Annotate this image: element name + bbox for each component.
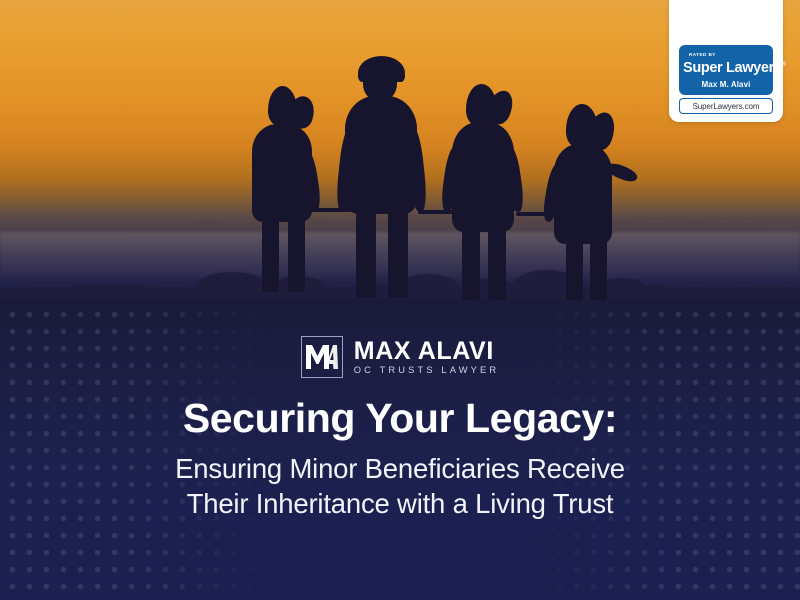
super-lawyers-badge[interactable]: RATED BY Super Lawyers® Max M. Alavi Sup… — [669, 0, 783, 122]
headline-secondary-line2: Their Inheritance with a Living Trust — [187, 488, 614, 519]
silhouette-figure-4-torso — [554, 144, 612, 244]
silhouette-figure-3-leg — [488, 224, 506, 300]
logo-wordmark: MAX ALAVI OC TRUSTS LAWYER — [354, 339, 499, 376]
headline-block: Securing Your Legacy: Ensuring Minor Ben… — [0, 396, 800, 521]
badge-attorney-name: Max M. Alavi — [683, 80, 769, 89]
badge-title: Super Lawyers® — [683, 61, 769, 76]
shrub — [60, 284, 150, 296]
registered-trademark-icon: ® — [782, 62, 786, 68]
headline-secondary-line1: Ensuring Minor Beneficiaries Receive — [175, 453, 625, 484]
silhouette-figure-4-leg — [566, 236, 583, 302]
monogram-icon — [301, 336, 343, 378]
silhouette-figure-1-leg — [262, 214, 279, 292]
silhouette-figure-1-leg — [288, 214, 305, 292]
logo-tagline: OC TRUSTS LAWYER — [354, 366, 499, 375]
silhouette-figure-2-leg — [388, 206, 408, 298]
content-panel: MAX ALAVI OC TRUSTS LAWYER Securing Your… — [0, 300, 800, 600]
brand-logo[interactable]: MAX ALAVI OC TRUSTS LAWYER — [0, 336, 800, 378]
hero-photo: RATED BY Super Lawyers® Max M. Alavi Sup… — [0, 0, 800, 320]
badge-url-link[interactable]: SuperLawyers.com — [679, 98, 773, 114]
logo-name: MAX ALAVI — [354, 339, 499, 365]
badge-rated-by-label: RATED BY — [683, 52, 769, 57]
silhouette-figure-2-leg — [356, 206, 376, 298]
promo-graphic: RATED BY Super Lawyers® Max M. Alavi Sup… — [0, 0, 800, 600]
badge-title-text: Super Lawyers — [683, 60, 782, 76]
headline-primary: Securing Your Legacy: — [60, 396, 740, 442]
headline-secondary: Ensuring Minor Beneficiaries Receive The… — [60, 451, 740, 521]
silhouette-figure-4-leg — [590, 236, 607, 302]
silhouette-figure-3-leg — [462, 224, 480, 300]
badge-blue-panel: RATED BY Super Lawyers® Max M. Alavi — [679, 45, 773, 96]
